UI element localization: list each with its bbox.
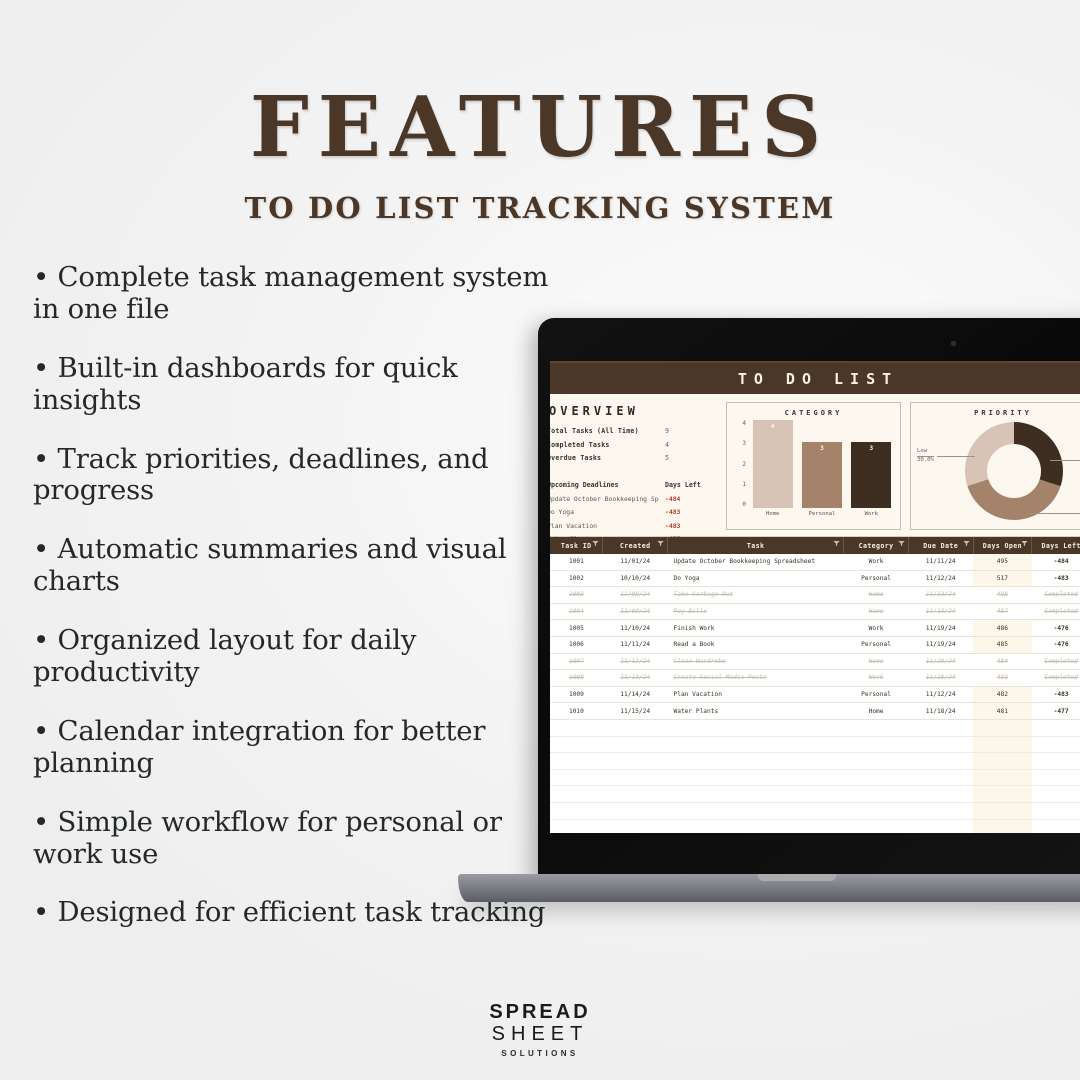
cell-days-left: -476 [1032, 620, 1080, 637]
cell-task: Read a Book [668, 636, 844, 653]
x-axis-labels: HomePersonalWork [748, 511, 896, 517]
y-tick: 2 [742, 461, 746, 468]
poster-canvas: FEATURES TO DO LIST TRACKING SYSTEM • Co… [0, 0, 1080, 1080]
category-bar-chart: 4 3 2 1 0 433 HomePersonalWork [731, 420, 896, 524]
bar-value-label: 3 [851, 445, 891, 452]
deadline-label: Plan Vacation [550, 522, 665, 530]
cell-task-id: 1003 [550, 587, 603, 604]
deadline-row: Plan Vacation -483 [550, 522, 722, 530]
cell-due-date: 11/18/24 [908, 670, 973, 687]
cell-days-open: 495 [973, 554, 1032, 570]
cell-due-date: 11/13/24 [908, 587, 973, 604]
cell-task-id: 1009 [550, 686, 603, 703]
cell-task-id: 1001 [550, 554, 603, 570]
deadlines-header: Upcoming Deadlines Days Left [550, 481, 722, 489]
cell-days-open: 517 [973, 570, 1032, 587]
list-item: • Organized layout for daily productivit… [33, 625, 553, 689]
dashboard-strip: OVERVIEW Total Tasks (All Time) 9 Comple… [550, 394, 1080, 537]
overview-title: OVERVIEW [550, 404, 722, 418]
stat-value: 9 [665, 427, 669, 435]
bar-column: 3 [851, 442, 891, 508]
bar-value-label: 3 [802, 445, 842, 452]
bar: 3 [851, 442, 891, 508]
cell-created: 11/08/24 [603, 587, 668, 604]
cell-task: Create Social Media Posts [668, 670, 844, 687]
cell-created: 11/10/24 [603, 620, 668, 637]
cell-days-left: Completed [1032, 653, 1080, 670]
cell-created: 11/13/24 [603, 670, 668, 687]
cell-task: Pay Bills [668, 603, 844, 620]
filter-icon[interactable] [833, 541, 840, 546]
deadline-days: -484 [665, 495, 680, 503]
page-subtitle: TO DO LIST TRACKING SYSTEM [0, 191, 1080, 225]
table-row[interactable]: 100511/10/24Finish WorkWork11/19/24486-4… [550, 620, 1080, 637]
cell-days-left: -476 [1032, 636, 1080, 653]
cell-task-id: 1005 [550, 620, 603, 637]
overview-stat: Overdue Tasks 5 [550, 454, 722, 462]
cell-task: Finish Work [668, 620, 844, 637]
y-tick: 0 [742, 501, 746, 508]
stat-label: Completed Tasks [550, 441, 665, 449]
deadline-label: Update October Bookkeeping Sp [550, 495, 665, 503]
cell-due-date: 11/12/24 [908, 570, 973, 587]
cell-task: Plan Vacation [668, 686, 844, 703]
feature-list: • Complete task management system in one… [33, 262, 553, 956]
table-row[interactable]: 100210/10/24Do YogaPersonal11/12/24517-4… [550, 570, 1080, 587]
cell-task-id: 1008 [550, 670, 603, 687]
brand-logo: SPREAD SHEET SOLUTIONS [0, 1001, 1080, 1058]
list-item: • Automatic summaries and visual charts [33, 534, 553, 598]
column-header-task-id[interactable]: Task ID [550, 537, 603, 554]
y-axis-ticks: 4 3 2 1 0 [731, 420, 746, 508]
y-tick: 3 [742, 440, 746, 447]
table-row[interactable]: 100611/11/24Read a BookPersonal11/19/244… [550, 636, 1080, 653]
stat-value: 5 [665, 454, 669, 462]
x-tick-label: Home [753, 511, 793, 517]
cell-task: Update October Bookkeeping Spreadsheet [668, 554, 844, 570]
stat-value: 4 [665, 441, 669, 449]
logo-line-3: SOLUTIONS [0, 1049, 1080, 1058]
cell-category: Work [844, 554, 909, 570]
callout-leader-line [937, 456, 975, 457]
cell-category: Personal [844, 636, 909, 653]
callout-leader-line [1027, 513, 1080, 514]
bar-column: 3 [802, 442, 842, 508]
cell-days-open: 484 [973, 653, 1032, 670]
webcam-icon [951, 341, 956, 346]
deadline-days: -483 [665, 522, 680, 530]
cell-due-date: 11/19/24 [908, 620, 973, 637]
list-item: • Designed for efficient task tracking [33, 897, 553, 929]
x-tick-label: Personal [802, 511, 842, 517]
table-row[interactable]: 100911/14/24Plan VacationPersonal11/12/2… [550, 686, 1080, 703]
deadline-days: -483 [665, 508, 680, 516]
table-row[interactable]: 100811/13/24Create Social Media PostsWor… [550, 670, 1080, 687]
table-row-empty[interactable] [550, 753, 1080, 770]
filter-icon[interactable] [1021, 541, 1028, 546]
column-header-label: Created [620, 542, 651, 550]
cell-category: Work [844, 670, 909, 687]
cell-task: Clean Wardrobe [668, 653, 844, 670]
callout-value: 30.0% [917, 457, 934, 465]
filter-icon[interactable] [963, 541, 970, 546]
cell-due-date: 11/12/24 [908, 686, 973, 703]
cell-days-open: 487 [973, 603, 1032, 620]
cell-category: Home [844, 703, 909, 720]
cell-days-open: 483 [973, 670, 1032, 687]
filter-icon[interactable] [898, 541, 905, 546]
table-row[interactable]: 100411/09/24Pay BillsHome11/13/24487Comp… [550, 603, 1080, 620]
list-item: • Complete task management system in one… [33, 262, 553, 326]
column-header-label: Task [747, 542, 764, 550]
cell-due-date: 11/19/24 [908, 636, 973, 653]
cell-days-left: Completed [1032, 603, 1080, 620]
table-body: 100111/01/24Update October Bookkeeping S… [550, 554, 1080, 833]
callout-label: Low [917, 448, 934, 457]
cell-task-id: 1004 [550, 603, 603, 620]
list-item: • Track priorities, deadlines, and progr… [33, 444, 553, 508]
cell-due-date: 11/13/24 [908, 603, 973, 620]
overview-panel: OVERVIEW Total Tasks (All Time) 9 Comple… [550, 402, 722, 536]
cell-days-open: 488 [973, 587, 1032, 604]
cell-days-open: 486 [973, 620, 1032, 637]
priority-donut-chart: Low 30.0% [915, 420, 1080, 524]
table-row-empty[interactable] [550, 802, 1080, 819]
cell-due-date: 11/11/24 [908, 554, 973, 570]
priority-chart-card: PRIORITY Low 30.0% [910, 402, 1080, 530]
table-row-empty[interactable] [550, 719, 1080, 736]
priority-chart-title: PRIORITY [915, 409, 1080, 417]
cell-days-left: -483 [1032, 570, 1080, 587]
table-row-empty[interactable] [550, 786, 1080, 803]
table-row[interactable]: 100311/08/24Take Garbage OutHome11/13/24… [550, 587, 1080, 604]
column-header-created[interactable]: Created [603, 537, 668, 554]
laptop-base [458, 874, 1080, 902]
column-header-category[interactable]: Category [844, 537, 909, 554]
column-header-days-open[interactable]: Days Open [973, 537, 1032, 554]
cell-days-left: -484 [1032, 554, 1080, 570]
cell-days-left: -483 [1032, 686, 1080, 703]
cell-task-id: 1006 [550, 636, 603, 653]
cell-created: 10/10/24 [603, 570, 668, 587]
bar: 4 [753, 420, 793, 508]
deadline-label: Do Yoga [550, 508, 665, 516]
page-title: FEATURES [0, 86, 1080, 169]
column-header-label: Category [859, 542, 894, 550]
cell-task-id: 1007 [550, 653, 603, 670]
laptop-screen: TO DO LIST DA OVERVIEW Total Tasks (All … [550, 361, 1080, 833]
cell-days-open: 482 [973, 686, 1032, 703]
sheet-header: TO DO LIST DA [550, 361, 1080, 394]
cell-category: Home [844, 653, 909, 670]
cell-category: Home [844, 587, 909, 604]
cell-category: Home [844, 603, 909, 620]
heading-block: FEATURES TO DO LIST TRACKING SYSTEM [0, 86, 1080, 225]
spacer [550, 468, 722, 481]
cell-task-id: 1010 [550, 703, 603, 720]
filter-icon[interactable] [592, 541, 599, 546]
cell-days-open: 481 [973, 703, 1032, 720]
column-header-days-left[interactable]: Days Left [1032, 537, 1080, 554]
y-tick: 1 [742, 481, 746, 488]
cell-created: 11/01/24 [603, 554, 668, 570]
cell-days-open: 485 [973, 636, 1032, 653]
column-header-label: Days Open [983, 542, 1022, 550]
bar-value-label: 4 [753, 423, 793, 430]
list-item: • Calendar integration for better planni… [33, 716, 553, 780]
cell-category: Work [844, 620, 909, 637]
laptop-mockup: TO DO LIST DA OVERVIEW Total Tasks (All … [538, 318, 1080, 918]
cell-created: 11/11/24 [603, 636, 668, 653]
y-tick: 4 [742, 420, 746, 427]
table-row[interactable]: 100111/01/24Update October Bookkeeping S… [550, 554, 1080, 570]
deadline-row: Do Yoga -483 [550, 508, 722, 516]
donut-callout-low: Low 30.0% [917, 448, 934, 464]
overview-stat: Completed Tasks 4 [550, 441, 722, 449]
cell-due-date: 11/20/24 [908, 653, 973, 670]
stat-label: Overdue Tasks [550, 454, 665, 462]
logo-line-2: SHEET [0, 1023, 1080, 1046]
overview-stat: Total Tasks (All Time) 9 [550, 427, 722, 435]
stat-label: Total Tasks (All Time) [550, 427, 665, 435]
table-row-empty[interactable] [550, 819, 1080, 833]
laptop-lid: TO DO LIST DA OVERVIEW Total Tasks (All … [538, 318, 1080, 883]
table-row-empty[interactable] [550, 769, 1080, 786]
task-table: Task IDCreatedTaskCategoryDue DateDays O… [550, 537, 1080, 833]
cell-created: 11/12/24 [603, 653, 668, 670]
cell-task: Do Yoga [668, 570, 844, 587]
cell-days-left: -477 [1032, 703, 1080, 720]
base-notch [758, 874, 836, 881]
table-row[interactable]: 101011/15/24Water PlantsHome11/18/24481-… [550, 703, 1080, 720]
list-item: • Built-in dashboards for quick insights [33, 353, 553, 417]
callout-leader-line [1050, 460, 1080, 461]
column-header-task[interactable]: Task [668, 537, 844, 554]
category-chart-card: CATEGORY 4 3 2 1 0 433 HomePe [726, 402, 901, 530]
list-item: • Simple workflow for personal or work u… [33, 807, 553, 871]
cell-created: 11/15/24 [603, 703, 668, 720]
cell-days-left: Completed [1032, 670, 1080, 687]
table-header-row: Task IDCreatedTaskCategoryDue DateDays O… [550, 537, 1080, 554]
column-header-label: Task ID [561, 542, 592, 550]
table-row[interactable]: 100711/12/24Clean WardrobeHome11/20/2448… [550, 653, 1080, 670]
cell-task-id: 1002 [550, 570, 603, 587]
cell-created: 11/14/24 [603, 686, 668, 703]
cell-task: Take Garbage Out [668, 587, 844, 604]
category-chart-title: CATEGORY [731, 409, 896, 417]
deadline-row: Update October Bookkeeping Sp -484 [550, 495, 722, 503]
x-tick-label: Work [851, 511, 891, 517]
cell-days-left: Completed [1032, 587, 1080, 604]
cell-category: Personal [844, 686, 909, 703]
bar: 3 [802, 442, 842, 508]
donut-ring [965, 422, 1063, 520]
sheet-title: TO DO LIST [738, 370, 898, 388]
bar-column: 4 [753, 420, 793, 508]
deadlines-header-value: Days Left [665, 481, 701, 489]
table-row-empty[interactable] [550, 736, 1080, 753]
column-header-label: Days Left [1041, 542, 1080, 550]
cell-task: Water Plants [668, 703, 844, 720]
deadlines-header-label: Upcoming Deadlines [550, 481, 665, 489]
filter-icon[interactable] [657, 541, 664, 546]
column-header-due-date[interactable]: Due Date [908, 537, 973, 554]
column-header-label: Due Date [923, 542, 958, 550]
logo-line-1: SPREAD [0, 1001, 1080, 1024]
cell-created: 11/09/24 [603, 603, 668, 620]
bar-series: 433 [748, 420, 896, 508]
cell-due-date: 11/18/24 [908, 703, 973, 720]
cell-category: Personal [844, 570, 909, 587]
spreadsheet-app: TO DO LIST DA OVERVIEW Total Tasks (All … [550, 361, 1080, 833]
